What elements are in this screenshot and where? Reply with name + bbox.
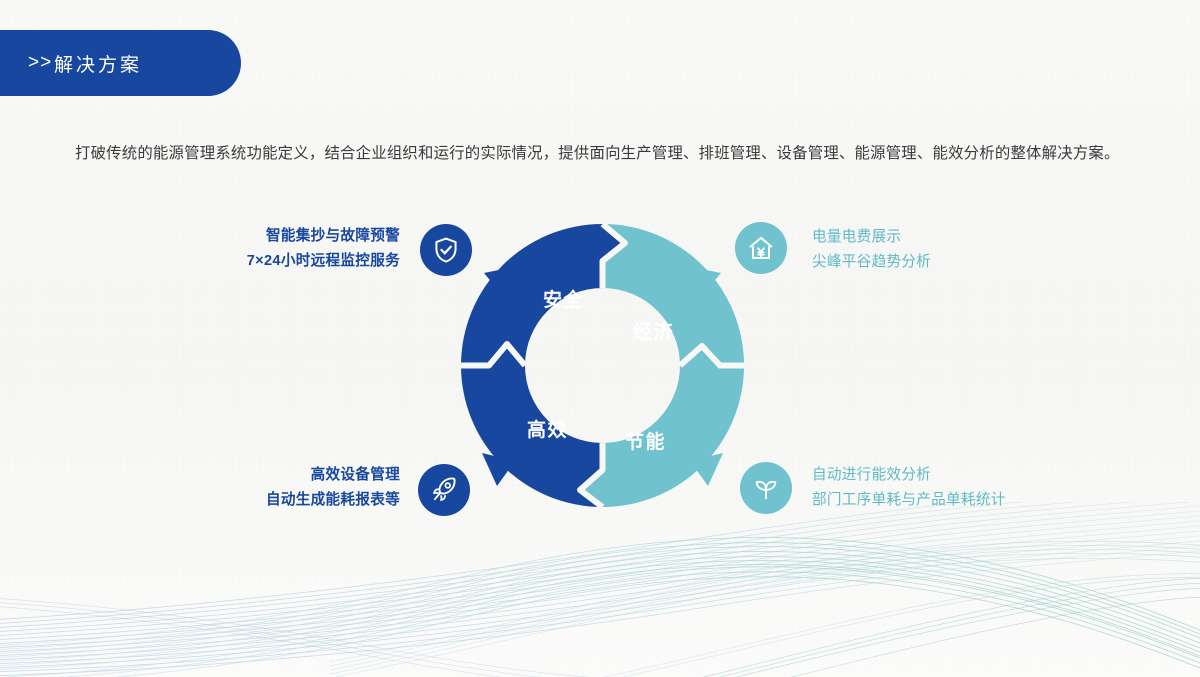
segment-label-efficiency: 高效 (527, 418, 568, 441)
page-title: 解决方案 (54, 50, 142, 77)
house-yuan-icon (747, 234, 775, 262)
callout-line: 高效设备管理 (140, 463, 400, 488)
rocket-icon (430, 476, 458, 504)
segment-label-saving: 节能 (625, 430, 666, 453)
house-yuan-icon-bubble (735, 222, 787, 274)
intro-paragraph: 打破传统的能源管理系统功能定义，结合企业组织和运行的实际情况，提供面向生产管理、… (75, 140, 1130, 168)
callout-line: 自动进行能效分析 (812, 463, 1142, 488)
callout-line: 部门工序单耗与产品单耗统计 (812, 488, 1142, 513)
callout-top-right: 电量电费展示 尖峰平谷趋势分析 (812, 225, 1142, 275)
callout-line: 尖峰平谷趋势分析 (812, 250, 1142, 275)
cycle-diagram: 安全 经济 节能 高效 (0, 200, 1200, 540)
shield-check-icon (432, 236, 460, 264)
callout-bottom-left: 高效设备管理 自动生成能耗报表等 (140, 463, 400, 513)
rocket-icon-bubble (418, 464, 470, 516)
callout-line: 7×24小时远程监控服务 (140, 249, 400, 274)
leaf-icon (752, 474, 780, 502)
slide-canvas: >> 解决方案 打破传统的能源管理系统功能定义，结合企业组织和运行的实际情况，提… (0, 0, 1200, 677)
shield-check-icon-bubble (420, 224, 472, 276)
chevron-right-double-icon: >> (28, 52, 52, 74)
callout-top-left: 智能集抄与故障预警 7×24小时远程监控服务 (140, 224, 400, 274)
callout-line: 智能集抄与故障预警 (140, 224, 400, 249)
section-title-badge: >> 解决方案 (0, 30, 241, 96)
segment-label-security: 安全 (543, 288, 584, 311)
callout-line: 电量电费展示 (812, 225, 1142, 250)
callout-line: 自动生成能耗报表等 (140, 488, 400, 513)
leaf-icon-bubble (740, 462, 792, 514)
segment-saving (580, 346, 744, 507)
cycle-wheel: 安全 经济 节能 高效 (455, 218, 750, 518)
segment-label-economy: 经济 (633, 320, 674, 343)
callout-bottom-right: 自动进行能效分析 部门工序单耗与产品单耗统计 (812, 463, 1142, 513)
